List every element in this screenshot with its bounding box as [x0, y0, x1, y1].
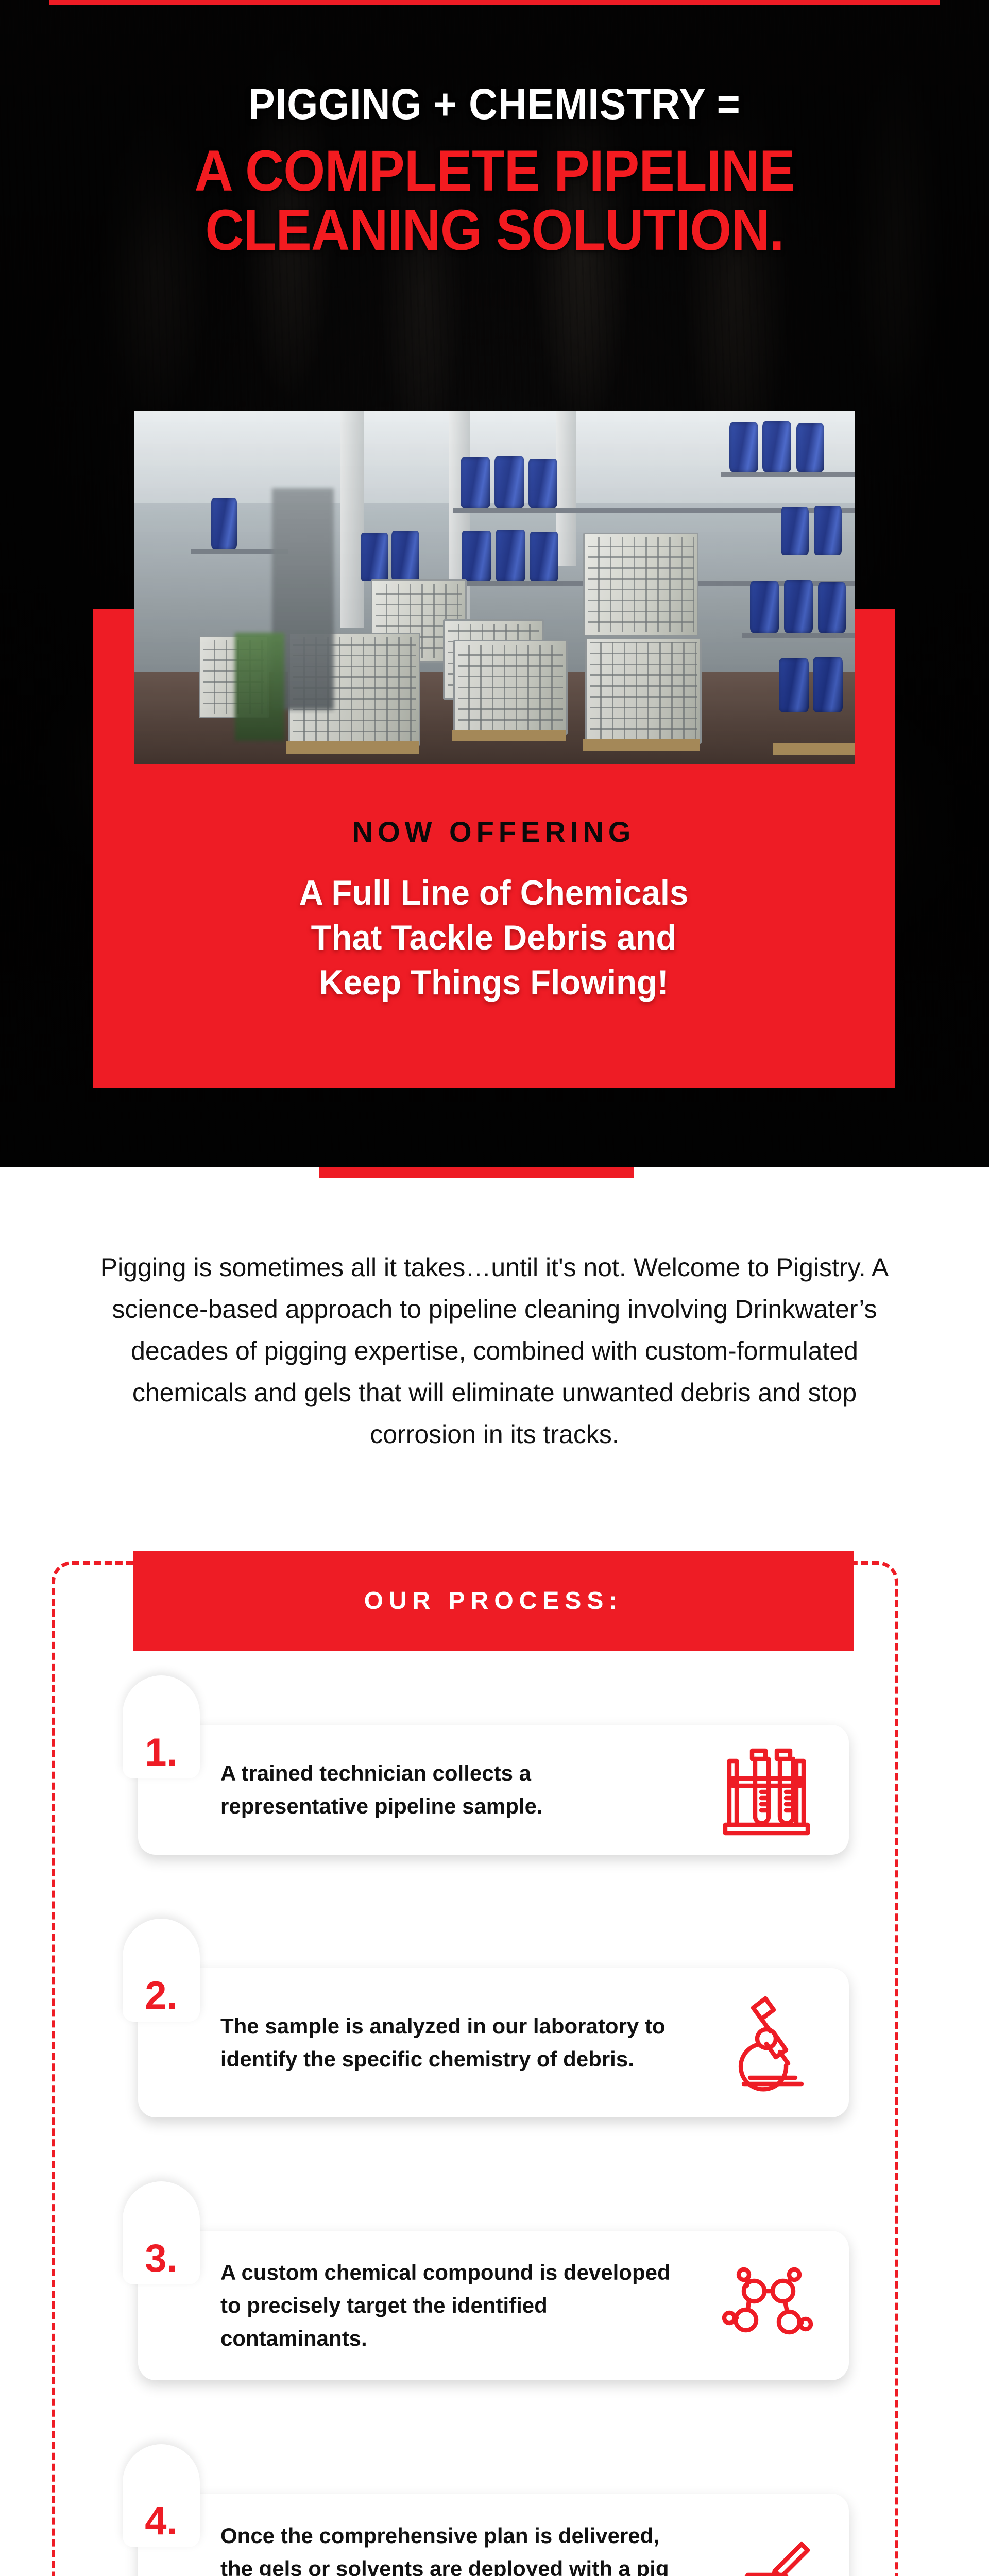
headline-line-1: PIGGING + CHEMISTRY =	[40, 82, 949, 126]
step-number-label: 1.	[145, 1733, 177, 1772]
section-divider-tab	[319, 1167, 634, 1178]
step-number-badge: 1.	[123, 1675, 200, 1778]
headline-line-3: CLEANING SOLUTION.	[35, 200, 954, 260]
headline-line-2: A COMPLETE PIPELINE	[35, 141, 954, 200]
step-number-badge: 3.	[123, 2181, 200, 2284]
molecule-icon	[684, 2254, 849, 2357]
process-heading-label: OUR PROCESS:	[364, 1587, 623, 1615]
step-description: A custom chemical compound is developed …	[138, 2235, 684, 2375]
microscope-icon	[684, 1991, 849, 2094]
step-description: The sample is analyzed in our laboratory…	[138, 1989, 684, 2096]
step-description: Once the comprehensive plan is delivered…	[138, 2499, 684, 2576]
top-accent-bar	[49, 0, 940, 5]
process-step-card[interactable]: 1. A trained technician collects a repre…	[138, 1725, 849, 1855]
step-description: A trained technician collects a represen…	[138, 1736, 684, 1843]
offer-subline-3: Keep Things Flowing!	[133, 960, 854, 1005]
beaker-dropper-icon	[684, 2534, 849, 2576]
step-number-badge: 2.	[123, 1919, 200, 2022]
process-step-card[interactable]: 2. The sample is analyzed in our laborat…	[138, 1968, 849, 2117]
offer-subheadline: A Full Line of Chemicals That Tackle Deb…	[133, 871, 854, 1005]
infographic-page: PIGGING + CHEMISTRY = A COMPLETE PIPELIN…	[0, 0, 989, 2576]
offer-kicker: NOW OFFERING	[93, 815, 895, 849]
photo-tone-overlay	[134, 411, 855, 764]
step-number-label: 3.	[145, 2239, 177, 2278]
warehouse-photo	[134, 411, 855, 764]
process-heading-banner: OUR PROCESS:	[133, 1551, 854, 1651]
intro-paragraph: Pigging is sometimes all it takes…until …	[88, 1247, 901, 1455]
step-number-label: 2.	[145, 1976, 177, 2015]
offer-subline-1: A Full Line of Chemicals	[133, 871, 854, 916]
offer-subline-2: That Tackle Debris and	[133, 916, 854, 960]
step-number-badge: 4.	[123, 2444, 200, 2547]
test-tube-rack-icon	[684, 1738, 849, 1841]
process-step-card[interactable]: 3. A custom chemical compound is develop…	[138, 2231, 849, 2380]
hero-headline: PIGGING + CHEMISTRY = A COMPLETE PIPELIN…	[0, 82, 989, 260]
step-number-label: 4.	[145, 2502, 177, 2541]
process-step-card[interactable]: 4. Once the comprehensive plan is delive…	[138, 2494, 849, 2576]
